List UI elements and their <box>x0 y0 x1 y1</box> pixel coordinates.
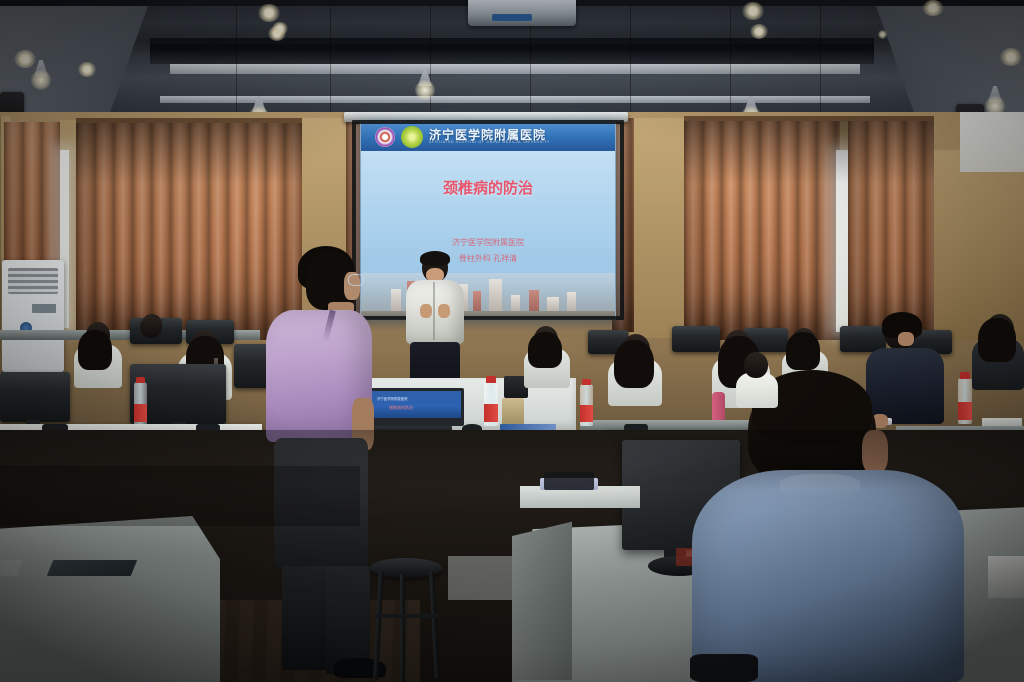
monitor <box>0 372 70 422</box>
attendee-blue-polo-shirt <box>692 470 964 682</box>
ceiling-seam <box>730 6 731 118</box>
foreground-attendee <box>676 374 976 682</box>
attendee-head <box>744 352 768 378</box>
air-conditioner-display <box>32 304 56 313</box>
pendant-light-glow <box>31 70 51 90</box>
whiteboard <box>960 112 1024 172</box>
ceiling-spotlight <box>1000 48 1022 66</box>
ceiling-projector <box>468 0 576 26</box>
bottle-cap <box>582 379 591 385</box>
ceiling-trim-band-2 <box>160 96 870 103</box>
ceiling-seam <box>430 6 431 116</box>
projection-screen-frame <box>352 120 624 320</box>
bottle-label <box>484 404 498 422</box>
eyeglasses <box>348 274 364 286</box>
attendee-hair <box>786 332 820 370</box>
projector-lens <box>492 14 532 21</box>
ceiling-spotlight <box>922 0 944 16</box>
attendee-hair <box>978 318 1016 362</box>
curtain-rod <box>684 116 934 121</box>
bottle-cap <box>486 376 496 383</box>
ceiling-spotlight <box>258 4 280 22</box>
attendee-head <box>140 316 162 338</box>
stool[interactable] <box>370 558 442 682</box>
water-bottle <box>134 382 147 426</box>
monitor <box>672 326 720 352</box>
ceiling-spotlight <box>878 30 887 39</box>
ceiling-spotlight <box>750 24 768 39</box>
attendee-hair <box>78 330 112 370</box>
bottle-cap <box>136 377 145 383</box>
ceiling-seam <box>820 6 821 118</box>
stool-leg <box>373 572 384 680</box>
desk-cable-port <box>47 560 137 576</box>
presenter-shirt-placket <box>433 282 435 340</box>
book <box>988 556 1024 598</box>
bottle-label <box>134 404 147 422</box>
presenter-shirt <box>406 280 464 344</box>
bottle-label <box>580 405 593 422</box>
presenter <box>404 252 466 398</box>
curtain-shadow <box>684 118 934 184</box>
attendee-face <box>898 332 914 346</box>
water-bottle <box>484 382 498 426</box>
curtain-shadow <box>76 120 302 184</box>
scene-shadow-band <box>0 430 1024 490</box>
ceiling-seam <box>630 6 631 116</box>
foreground-desk-left <box>0 516 220 682</box>
presenter-hand-right <box>438 304 450 318</box>
attendee-hair <box>614 340 654 388</box>
air-conditioner-vent <box>8 268 58 294</box>
ceiling-seam <box>330 6 331 118</box>
document-stack <box>502 398 524 426</box>
stool-rail <box>375 614 439 618</box>
water-bottle <box>580 384 593 426</box>
lecture-hall-photo: 济宁医学院附属医院 AFFILIATED HOSPITAL OF JINING … <box>0 0 1024 682</box>
wall-panel <box>628 118 687 338</box>
podium-monitor-screen: 济宁医学院附属医院 颈椎病的防治 <box>369 391 461 418</box>
pendant-light-glow <box>415 80 435 100</box>
ceiling-trim-band <box>170 64 860 74</box>
air-conditioner <box>2 260 64 372</box>
observer-leg-left <box>282 566 326 670</box>
podium-screen-subtext: 颈椎病的防治 <box>389 405 413 411</box>
ceiling-recess <box>150 50 874 64</box>
stool-leg <box>400 574 405 682</box>
ceiling-seam <box>236 6 237 118</box>
presenter-hand-left <box>420 304 432 318</box>
ceiling-spotlight <box>78 62 96 77</box>
ceiling-spotlight <box>272 22 288 35</box>
stool-leg <box>429 572 440 678</box>
ceiling-spotlight <box>14 50 36 68</box>
attendee-seat-shadow <box>690 654 758 682</box>
presenter-hair <box>420 251 450 266</box>
attendee-hair <box>528 332 562 368</box>
curtain-rod <box>76 118 302 123</box>
ceiling-spotlight <box>742 2 764 20</box>
wall-panel <box>930 150 1024 340</box>
